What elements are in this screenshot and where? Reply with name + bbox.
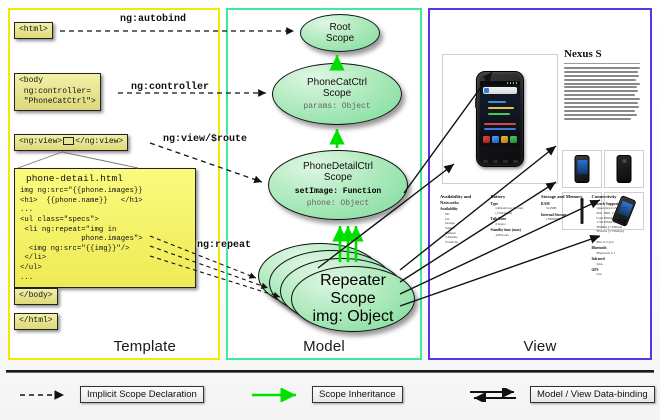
spec-value: Vodafone <box>440 240 489 245</box>
thumbnail-back[interactable] <box>604 150 644 188</box>
legend-label: Implicit Scope Declaration <box>80 386 204 403</box>
phone-statusbar <box>480 81 520 85</box>
spec-column-availability: Availability and Networks Availability M… <box>440 194 489 277</box>
spec-value: false <box>592 262 641 267</box>
spec-value: 6 hours <box>491 222 540 227</box>
spec-heading: Connectivity <box>592 194 641 200</box>
scope-phonedetailctrl-line2: Scope <box>324 172 352 183</box>
ngview-close-tag: </ng:view> <box>75 137 123 146</box>
scope-phonedetailctrl-prop-setimage: setImage: Function <box>295 187 381 197</box>
spec-column-battery: Battery Type Lithium Ion (Li-ion) (1500 … <box>491 194 540 277</box>
spec-value: 16384MB <box>541 217 590 222</box>
scope-phonedetailctrl-line1: PhoneDetailCtrl <box>303 161 373 172</box>
label-ng-controller: ng:controller <box>131 82 209 93</box>
legend-divider <box>6 370 654 373</box>
spec-value: (1500 mAh) <box>491 211 540 216</box>
callout-code: img ng:src="{{phone.images}} <h1> {{phon… <box>20 187 190 283</box>
spec-value: Bluetooth 2.1 <box>592 251 641 256</box>
label-ng-view-route: ng:view/$route <box>163 134 247 145</box>
legend-scope-inheritance: Scope Inheritance <box>250 386 403 403</box>
spec-heading: Availability and Networks <box>440 194 489 205</box>
ngview-open-tag: <ng:view> <box>19 137 62 146</box>
scope-root: Root Scope <box>300 14 380 52</box>
scope-repeater-prop-img: img: Object <box>313 308 394 326</box>
spec-value: 802.11 b/g/n <box>592 240 641 245</box>
phone-hero-image-frame <box>442 54 558 184</box>
spec-value: HSUPA (5.76Mbps) <box>592 229 641 234</box>
diagram-canvas: Template Model View <html> <body ng:cont… <box>0 0 660 420</box>
code-box-body-open: <body ng:controller= "PhoneCatCtrl"> <box>14 73 101 111</box>
spec-value: true <box>592 272 641 277</box>
panel-model-label: Model <box>228 338 420 355</box>
scope-root-line1: Root <box>329 22 350 33</box>
phone-side-button <box>475 98 477 108</box>
view-spec-table: Availability and Networks Availability M… <box>440 194 640 277</box>
spec-heading: Battery <box>491 194 540 200</box>
scope-phonedetailctrl: PhoneDetailCtrl Scope setImage: Function… <box>268 150 408 220</box>
view-product-title: Nexus S <box>564 48 602 60</box>
scope-root-line2: Scope <box>326 33 354 44</box>
panel-view-label: View <box>430 338 650 355</box>
dashed-arrow-icon <box>18 388 74 402</box>
scope-phonedetailctrl-prop-phone: phone: Object <box>307 199 369 209</box>
phone-screen <box>480 81 520 147</box>
code-box-ngview: <ng:view></ng:view> <box>14 134 128 151</box>
label-ng-repeat: ng:repeat <box>197 240 251 251</box>
rendered-view-page: Nexus S Availability and Networks Availa… <box>436 22 644 340</box>
view-title-rule <box>564 63 640 64</box>
scope-phonecatctrl-line2: Scope <box>323 88 351 99</box>
panel-template-label: Template <box>114 338 218 355</box>
callout-phone-detail-html: phone-detail.html img ng:src="{{phone.im… <box>14 168 196 288</box>
spec-heading: Storage and Memory <box>541 194 590 200</box>
placeholder-rect-icon <box>63 137 74 145</box>
spec-value: 428 hours <box>491 233 540 238</box>
legend-model-view-databinding: Model / View Data-binding <box>468 386 655 403</box>
spec-value: 512MB <box>541 206 590 211</box>
green-arrow-icon <box>250 388 306 402</box>
spec-column-connectivity: Connectivity Network Support Quad-band G… <box>592 194 641 277</box>
legend-label: Scope Inheritance <box>312 386 403 403</box>
phone-app-dock <box>482 133 518 145</box>
callout-title: phone-detail.html <box>20 172 190 187</box>
scope-repeater: Repeater Scope img: Object <box>291 266 415 332</box>
scope-repeater-line2: Scope <box>330 290 375 308</box>
legend-implicit-scope-declaration: Implicit Scope Declaration <box>18 386 204 403</box>
double-arrow-icon <box>468 388 524 402</box>
scope-repeater-line1: Repeater <box>320 272 386 290</box>
label-ng-autobind: ng:autobind <box>120 14 186 25</box>
view-product-description <box>564 67 640 121</box>
scope-phonecatctrl-line1: PhoneCatCtrl <box>307 77 367 88</box>
nexus-s-phone-image <box>476 71 524 167</box>
scope-phonecatctrl: PhoneCatCtrl Scope params: Object <box>272 63 402 125</box>
thumbnail-front[interactable] <box>562 150 602 188</box>
code-box-html-open: <html> <box>14 22 53 39</box>
legend-label: Model / View Data-binding <box>530 386 655 403</box>
phone-search-widget <box>483 87 517 94</box>
phone-nav-buttons <box>480 158 520 164</box>
scope-phonecatctrl-prop-params: params: Object <box>303 102 370 112</box>
spec-column-storage: Storage and Memory RAM 512MB Internal St… <box>541 194 590 277</box>
code-box-html-close: </html> <box>14 313 58 330</box>
code-box-body-close: </body> <box>14 288 58 305</box>
